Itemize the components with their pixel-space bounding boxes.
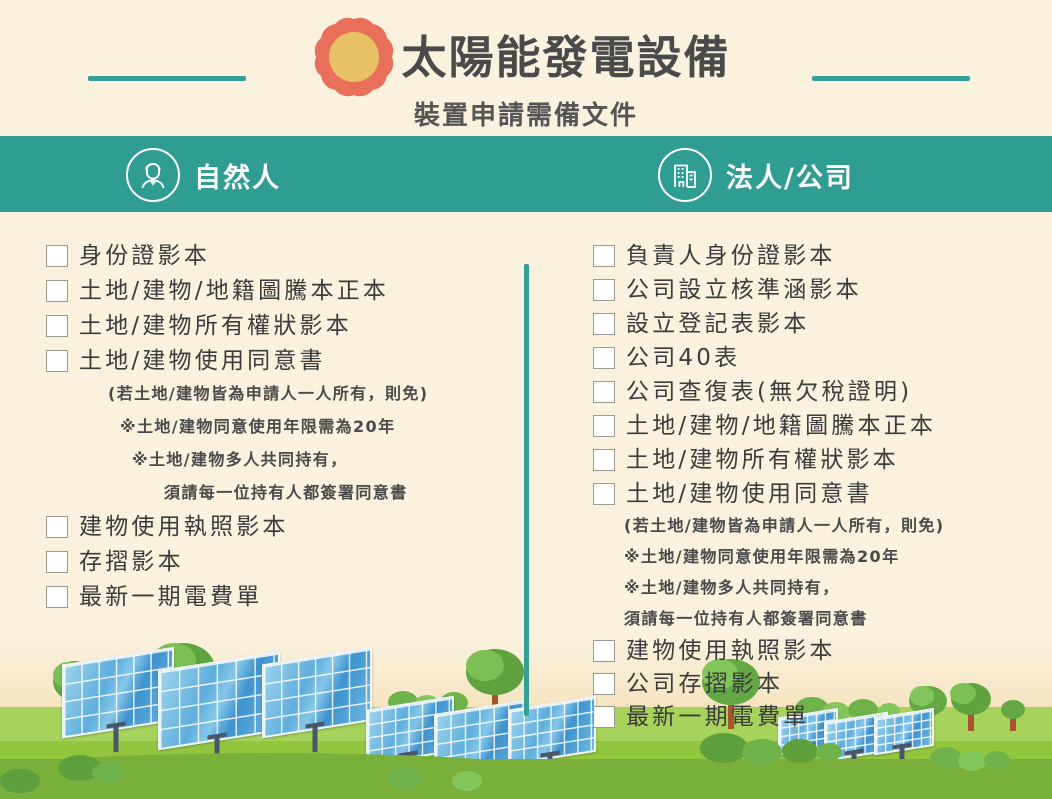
checkbox[interactable]: [593, 381, 615, 403]
title-block: 太陽能發電設備: [0, 24, 1052, 94]
checkbox[interactable]: [593, 279, 615, 301]
list-item-label: 土地/建物使用同意書: [79, 350, 326, 373]
list-item[interactable]: 公司查復表(無欠稅證明): [593, 381, 944, 404]
list-item-label: 土地/建物所有權狀影本: [79, 315, 352, 338]
list-item-label: 公司查復表(無欠稅證明): [626, 381, 912, 404]
list-item-label: 土地/建物使用同意書: [626, 483, 873, 506]
person-circle-icon: [126, 148, 180, 202]
note-line: (若土地/建物皆為申請人一人所有，則免): [624, 512, 944, 536]
note-line: 須請每一位持有人都簽署同意書: [164, 479, 428, 503]
checkbox[interactable]: [46, 551, 68, 573]
list-item-label: 公司40表: [626, 347, 740, 370]
column-divider: [524, 264, 529, 716]
bush-icon: [816, 743, 842, 761]
bush-icon: [930, 747, 962, 769]
list-item-label: 建物使用執照影本: [626, 640, 836, 663]
list-item[interactable]: 存摺影本: [46, 551, 428, 574]
list-item[interactable]: 土地/建物使用同意書: [593, 483, 944, 506]
list-item-label: 土地/建物所有權狀影本: [626, 449, 899, 472]
bush-icon: [958, 751, 986, 771]
checkbox[interactable]: [593, 449, 615, 471]
page-subtitle: 裝置申請需備文件: [0, 95, 1052, 132]
checkbox[interactable]: [593, 706, 615, 728]
bush-icon: [742, 739, 782, 765]
checkbox[interactable]: [46, 516, 68, 538]
list-item[interactable]: 土地/建物使用同意書: [46, 350, 428, 373]
list-item-label: 最新一期電費單: [626, 706, 809, 729]
tree-icon: [1000, 697, 1026, 731]
column-header-label: 自然人: [194, 156, 281, 195]
note-line: ※土地/建物同意使用年限需為20年: [120, 413, 428, 437]
note-line: (若土地/建物皆為申請人一人所有，則免): [108, 380, 428, 404]
list-item-label: 最新一期電費單: [79, 586, 262, 609]
list-item[interactable]: 身份證影本: [46, 245, 428, 268]
list-item[interactable]: 土地/建物所有權狀影本: [46, 315, 428, 338]
list-item[interactable]: 公司40表: [593, 347, 944, 370]
list-item[interactable]: 公司存摺影本: [593, 673, 944, 696]
checkbox[interactable]: [46, 245, 68, 267]
note-line: ※土地/建物同意使用年限需為20年: [624, 543, 944, 567]
bush-icon: [0, 769, 40, 793]
checklist-natural-person: 身份證影本 土地/建物/地籍圖騰本正本 土地/建物所有權狀影本 土地/建物使用同…: [46, 245, 428, 609]
list-item[interactable]: 土地/建物/地籍圖騰本正本: [593, 415, 944, 438]
list-item-label: 公司設立核準涵影本: [626, 279, 862, 302]
list-item[interactable]: 最新一期電費單: [593, 706, 944, 729]
checkbox[interactable]: [593, 347, 615, 369]
checkbox[interactable]: [593, 313, 615, 335]
list-item-label: 設立登記表影本: [626, 313, 809, 336]
list-item[interactable]: 公司設立核準涵影本: [593, 279, 944, 302]
checkbox[interactable]: [46, 586, 68, 608]
building-circle-icon: [658, 148, 712, 202]
note-line: 須請每一位持有人都簽署同意書: [624, 605, 944, 629]
list-item[interactable]: 建物使用執照影本: [46, 516, 428, 539]
column-header-label: 法人/公司: [726, 156, 854, 195]
bush-icon: [452, 771, 482, 791]
bush-icon: [700, 733, 748, 763]
tree-icon: [950, 681, 992, 731]
list-item-label: 土地/建物/地籍圖騰本正本: [79, 280, 389, 303]
checkbox[interactable]: [593, 673, 615, 695]
list-item[interactable]: 最新一期電費單: [46, 586, 428, 609]
list-item[interactable]: 土地/建物所有權狀影本: [593, 449, 944, 472]
column-header-legal-entity: 法人/公司: [658, 148, 854, 202]
checkbox[interactable]: [593, 245, 615, 267]
checkbox[interactable]: [593, 640, 615, 662]
checklist-legal-entity: 負責人身份證影本 公司設立核準涵影本 設立登記表影本 公司40表 公司查復表(無…: [593, 245, 944, 729]
list-item[interactable]: 土地/建物/地籍圖騰本正本: [46, 280, 428, 303]
bush-icon: [388, 767, 422, 789]
note-line: ※土地/建物多人共同持有，: [132, 446, 428, 470]
bush-icon: [92, 762, 126, 783]
checkbox[interactable]: [593, 415, 615, 437]
checkbox[interactable]: [46, 315, 68, 337]
note-line: ※土地/建物多人共同持有，: [624, 574, 944, 598]
checkbox[interactable]: [46, 350, 68, 372]
list-item-label: 存摺影本: [79, 551, 184, 574]
sun-icon: [321, 24, 387, 90]
list-item[interactable]: 設立登記表影本: [593, 313, 944, 336]
list-item-notes: (若土地/建物皆為申請人一人所有，則免) ※土地/建物同意使用年限需為20年 ※…: [46, 380, 428, 503]
list-item-label: 負責人身份證影本: [626, 245, 836, 268]
list-item[interactable]: 建物使用執照影本: [593, 640, 944, 663]
list-item-notes: (若土地/建物皆為申請人一人所有，則免) ※土地/建物同意使用年限需為20年 ※…: [593, 512, 944, 629]
list-item-label: 建物使用執照影本: [79, 516, 289, 539]
page-title: 太陽能發電設備: [401, 35, 730, 80]
list-item-label: 公司存摺影本: [626, 673, 783, 696]
column-header-natural-person: 自然人: [126, 148, 281, 202]
bush-icon: [782, 739, 818, 763]
checkbox[interactable]: [593, 483, 615, 505]
infographic-page: 太陽能發電設備 裝置申請需備文件 自然人 法人/公司: [0, 0, 1052, 799]
list-item-label: 身份證影本: [79, 245, 210, 268]
list-item-label: 土地/建物/地籍圖騰本正本: [626, 415, 936, 438]
list-item[interactable]: 負責人身份證影本: [593, 245, 944, 268]
checkbox[interactable]: [46, 280, 68, 302]
bush-icon: [984, 751, 1010, 769]
